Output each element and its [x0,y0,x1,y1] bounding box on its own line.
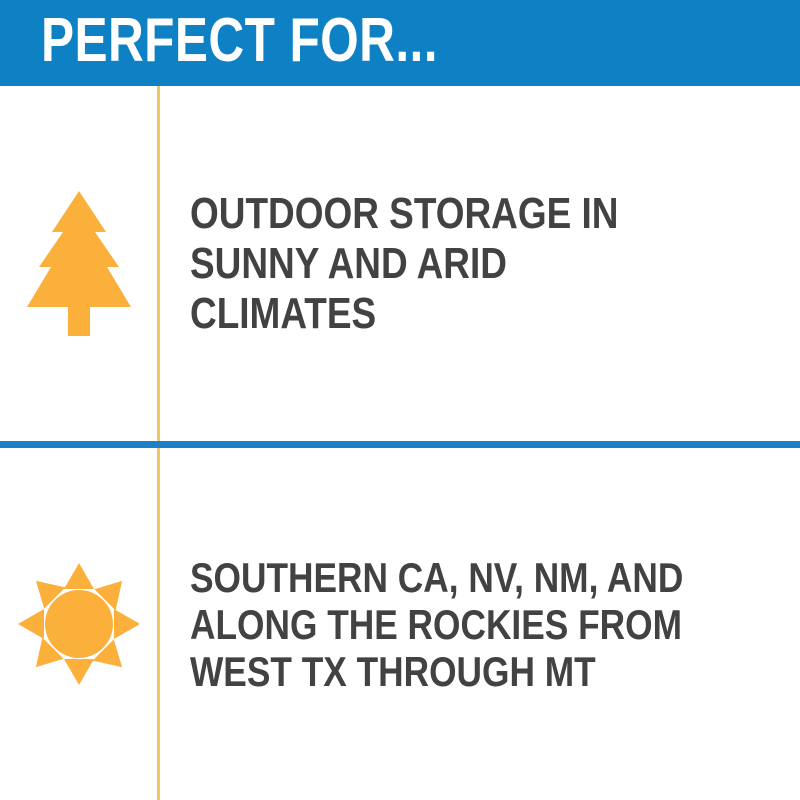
evergreen-tree-icon [27,191,131,336]
item-icon-cell [0,448,157,800]
sun-icon [18,563,140,685]
item-text-cell: OUTDOOR STORAGE IN SUNNY AND ARID CLIMAT… [157,189,800,339]
item-icon-cell [0,86,157,441]
infographic-panel: PERFECT FOR... OUTDOOR STORAGE IN SUNNY … [0,0,800,800]
page-title: PERFECT FOR... [41,3,438,79]
list-item: OUTDOOR STORAGE IN SUNNY AND ARID CLIMAT… [0,86,800,441]
item-label: SOUTHERN CA, NV, NM, AND ALONG THE ROCKI… [190,554,696,695]
list-item: SOUTHERN CA, NV, NM, AND ALONG THE ROCKI… [0,448,800,800]
item-text-cell: SOUTHERN CA, NV, NM, AND ALONG THE ROCKI… [157,554,800,695]
horizontal-divider [0,441,800,448]
header-bar: PERFECT FOR... [0,0,800,86]
item-label: OUTDOOR STORAGE IN SUNNY AND ARID CLIMAT… [190,189,696,339]
